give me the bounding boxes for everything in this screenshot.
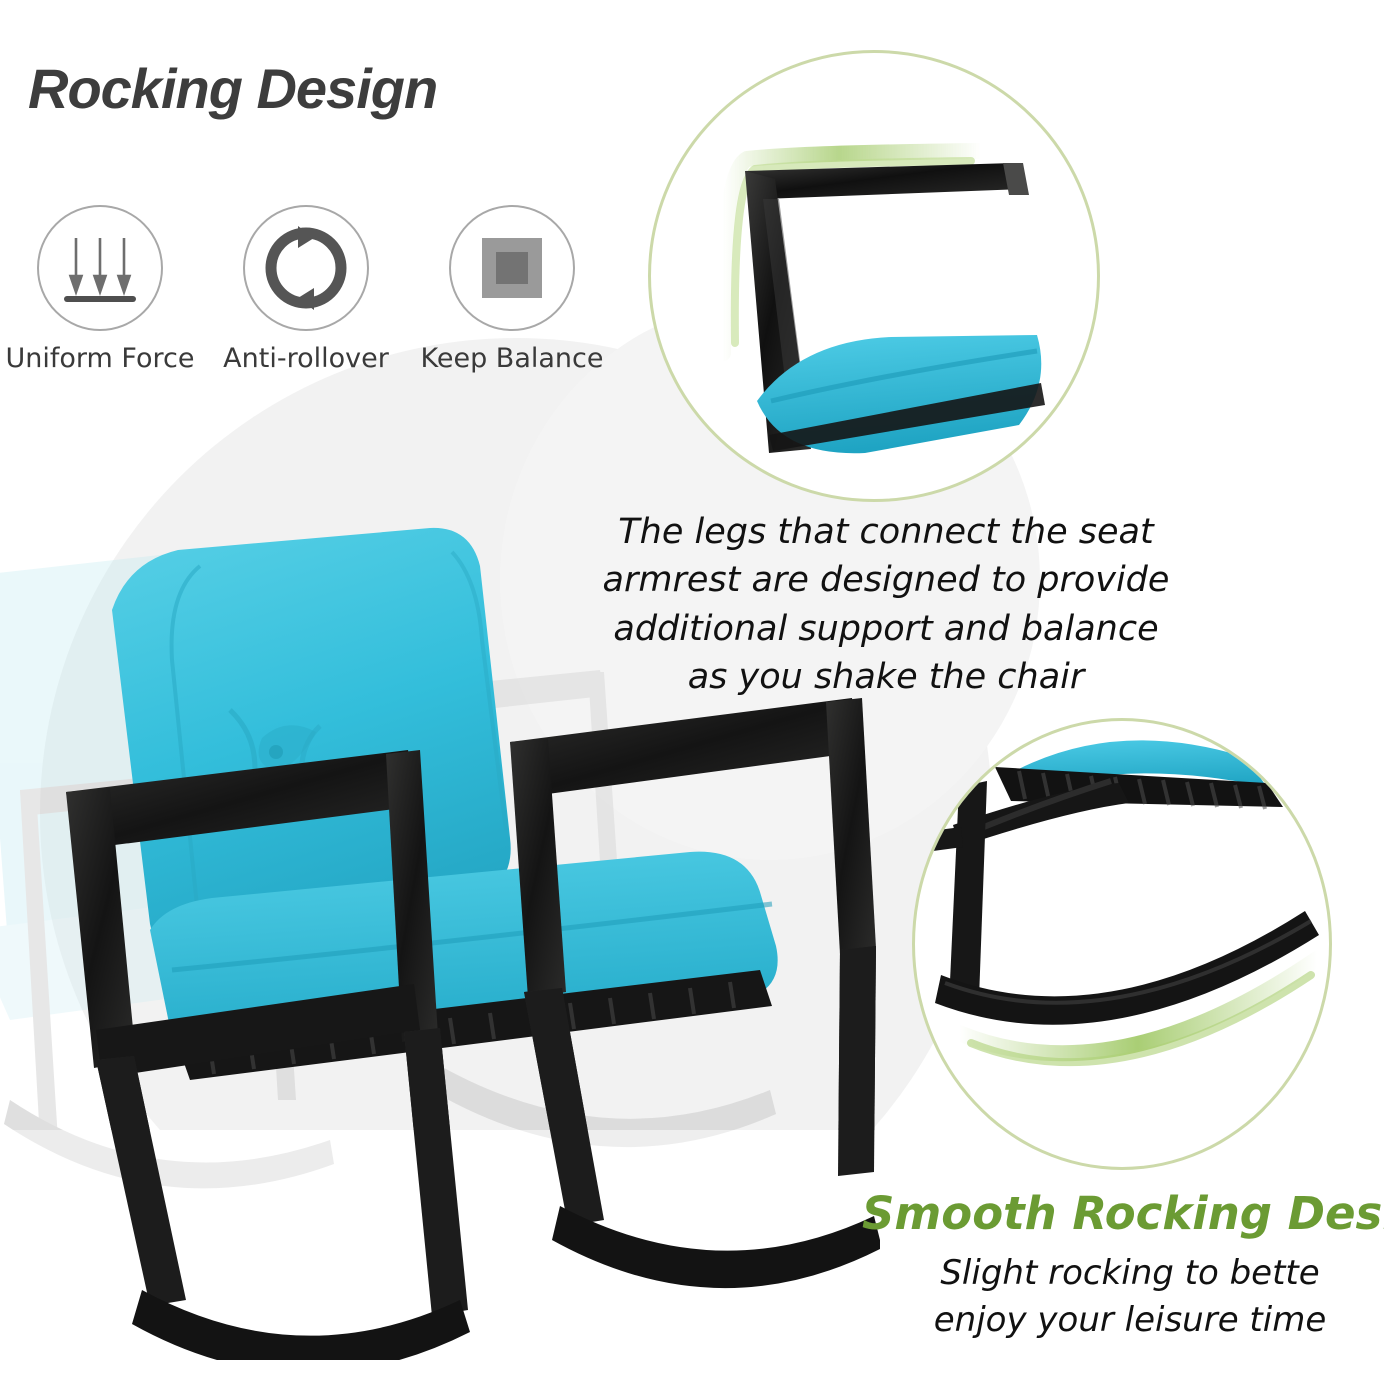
caption-line: The legs that connect the seat — [596, 508, 1176, 556]
legs-caption: The legs that connect the seat armrest a… — [596, 508, 1176, 701]
armrest-leg-joint-closeup — [648, 50, 1100, 502]
front-leg-closeup — [949, 781, 987, 1003]
feature-label: Uniform Force — [6, 343, 195, 374]
feature-icon-row: Uniform Force Anti-rollover — [10, 205, 602, 374]
caption-line: as you shake the chair — [596, 653, 1176, 701]
caption-line: additional support and balance — [596, 605, 1176, 653]
infographic-canvas: Rocking Design Uniform Force — [0, 0, 1384, 1384]
smooth-rocking-subtitle: Slight rocking to bette enjoy your leisu… — [880, 1250, 1380, 1344]
nested-squares-icon — [466, 222, 558, 314]
circular-rotation-arrows-icon — [260, 222, 352, 314]
page-title: Rocking Design — [28, 56, 437, 121]
smooth-rocking-heading: Smooth Rocking Design — [862, 1187, 1384, 1240]
feature-anti-rollover: Anti-rollover — [216, 205, 396, 374]
feature-label: Anti-rollover — [223, 343, 389, 374]
feature-circle — [449, 205, 575, 331]
rocker-base-closeup — [912, 718, 1332, 1170]
feature-label: Keep Balance — [421, 343, 604, 374]
feature-keep-balance: Keep Balance — [422, 205, 602, 374]
armrest-closeup-art — [651, 53, 1097, 499]
caption-line: armrest are designed to provide — [596, 556, 1176, 604]
downward-arrows-on-bar-icon — [54, 222, 146, 314]
rocker-closeup-art — [915, 721, 1329, 1167]
subtitle-line: enjoy your leisure time — [880, 1297, 1380, 1344]
subtitle-line: Slight rocking to bette — [880, 1250, 1380, 1297]
feature-circle — [37, 205, 163, 331]
feature-uniform-force: Uniform Force — [10, 205, 190, 374]
feature-circle — [243, 205, 369, 331]
